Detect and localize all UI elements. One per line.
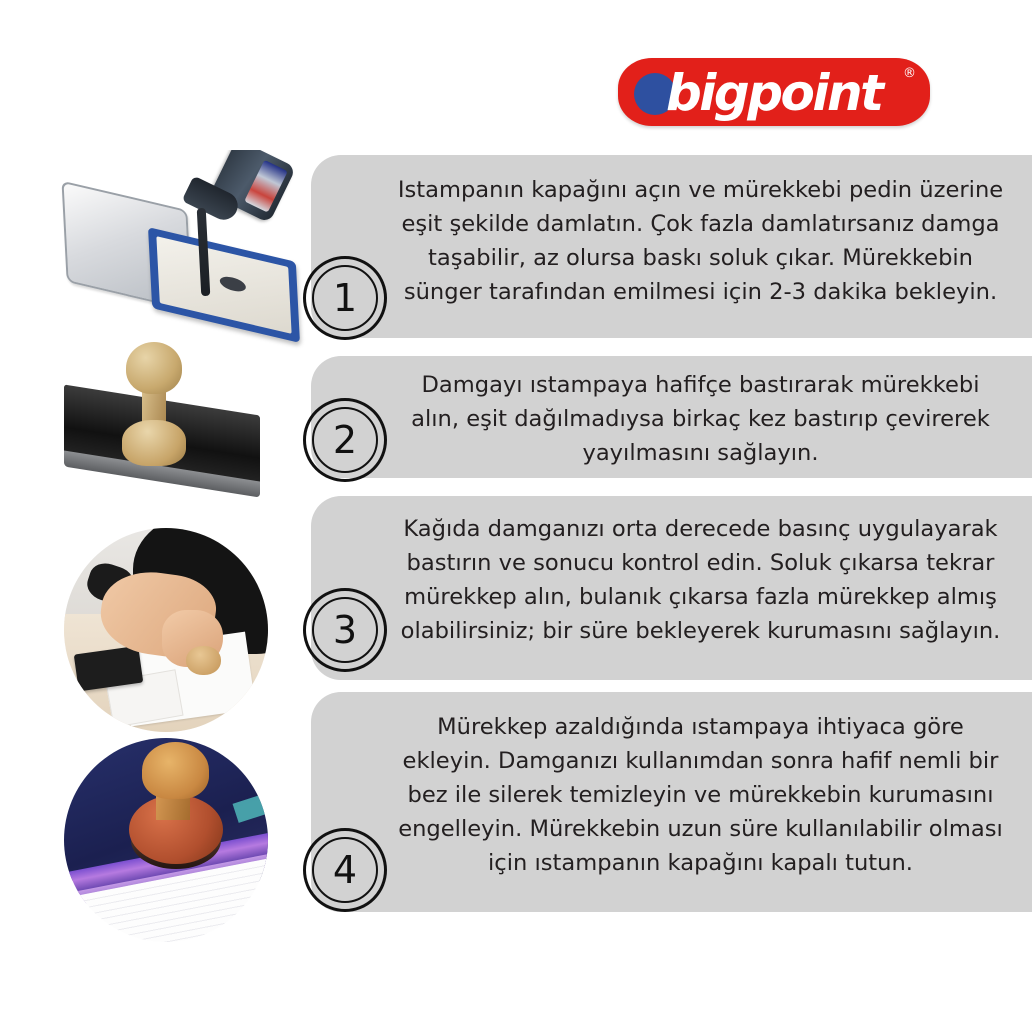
wooden-rubber-stamp-photo (60, 340, 310, 520)
ink-pad-base (148, 227, 300, 343)
step-4-text: Mürekkep azaldığında ıstampaya ihtiyaca … (311, 692, 1032, 880)
stamp-handle-knob (126, 342, 182, 394)
step-number-badge-4: 4 (303, 828, 387, 912)
infographic-page: bigpoint ® (0, 0, 1032, 1032)
stamp-on-blue-ink-pad-photo (64, 738, 268, 942)
ink-bottle-label (244, 160, 288, 213)
step-number-badge-3: 3 (303, 588, 387, 672)
stamp-handle-foot (122, 420, 186, 466)
hand-stamping-paper-photo (64, 528, 268, 732)
logo-wordmark: bigpoint (666, 64, 882, 122)
step-number-badge-2: 2 (303, 398, 387, 482)
ink-pad-with-ink-bottle-photo (58, 150, 308, 350)
step-panel-2: Damgayı ıstampaya hafifçe bastırarak mür… (311, 356, 1032, 478)
bigpoint-logo: bigpoint ® (618, 58, 930, 126)
step-panel-3: Kağıda damganızı orta derecede basınç uy… (311, 496, 1032, 680)
registered-trademark-icon: ® (903, 67, 916, 80)
step-panel-4: Mürekkep azaldığında ıstampaya ihtiyaca … (311, 692, 1032, 912)
step-1-text: Istampanın kapağını açın ve mürekkebi pe… (311, 155, 1032, 309)
step-number-badge-1: 1 (303, 256, 387, 340)
step-3-text: Kağıda damganızı orta derecede basınç uy… (311, 496, 1032, 648)
step-panel-1: Istampanın kapağını açın ve mürekkebi pe… (311, 155, 1032, 338)
photo3-stamp (186, 646, 221, 675)
step-number-4: 4 (306, 831, 384, 909)
step-number-2: 2 (306, 401, 384, 479)
photo4-stamp-knob (142, 742, 209, 799)
step-number-1: 1 (306, 259, 384, 337)
step-number-3: 3 (306, 591, 384, 669)
step-2-text: Damgayı ıstampaya hafifçe bastırarak mür… (311, 356, 1032, 470)
